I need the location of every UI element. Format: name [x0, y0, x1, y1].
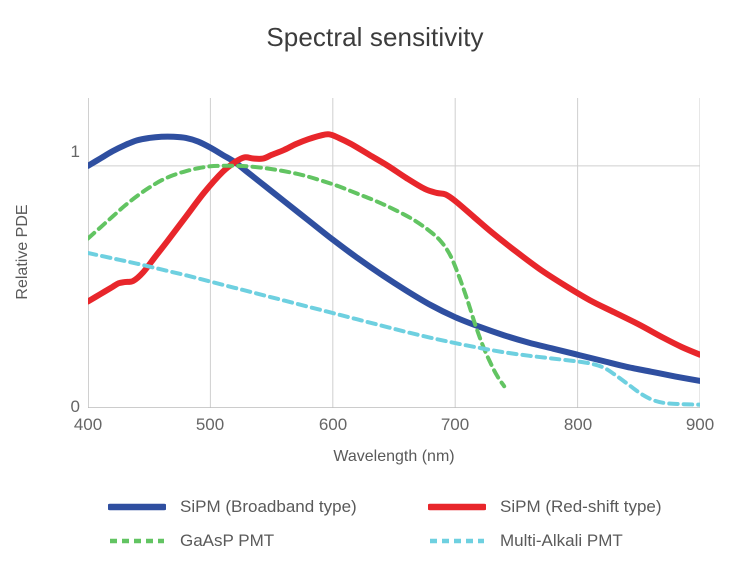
legend-row: SiPM (Broadband type) SiPM (Red-shift ty…: [108, 490, 688, 524]
legend-gaasp-pmt[interactable]: GaAsP PMT: [108, 531, 428, 551]
legend-multi-alkali-pmt[interactable]: Multi-Alkali PMT: [428, 531, 688, 551]
x-tick-900: 900: [670, 415, 730, 435]
legend-sipm-broadband[interactable]: SiPM (Broadband type): [108, 497, 428, 517]
plot-area: [88, 98, 700, 408]
legend: SiPM (Broadband type) SiPM (Red-shift ty…: [108, 490, 688, 558]
plot-canvas: [88, 98, 700, 408]
legend-label: SiPM (Red-shift type): [500, 497, 662, 517]
series-lines: [88, 134, 700, 404]
legend-label: GaAsP PMT: [180, 531, 274, 551]
x-tick-700: 700: [425, 415, 485, 435]
x-tick-800: 800: [548, 415, 608, 435]
series-line: [88, 134, 700, 355]
x-tick-600: 600: [303, 415, 363, 435]
x-tick-500: 500: [180, 415, 240, 435]
series-line: [88, 253, 700, 405]
legend-label: SiPM (Broadband type): [180, 497, 357, 517]
y-tick-1: 1: [48, 142, 80, 162]
legend-label: Multi-Alkali PMT: [500, 531, 623, 551]
legend-row: GaAsP PMT Multi-Alkali PMT: [108, 524, 688, 558]
y-axis-title: Relative PDE: [14, 182, 32, 322]
legend-swatch-line-icon: [108, 500, 166, 514]
spectral-sensitivity-chart: Spectral sensitivity 400 500 600 700 800…: [0, 0, 750, 574]
x-tick-400: 400: [58, 415, 118, 435]
legend-sipm-redshift[interactable]: SiPM (Red-shift type): [428, 497, 688, 517]
page-title: Spectral sensitivity: [0, 22, 750, 53]
y-tick-0: 0: [48, 397, 80, 417]
series-line: [88, 166, 504, 386]
legend-swatch-line-icon: [428, 500, 486, 514]
x-axis-title: Wavelength (nm): [88, 448, 700, 466]
legend-swatch-dashed-line-icon: [108, 534, 166, 548]
legend-swatch-dashed-line-icon: [428, 534, 486, 548]
